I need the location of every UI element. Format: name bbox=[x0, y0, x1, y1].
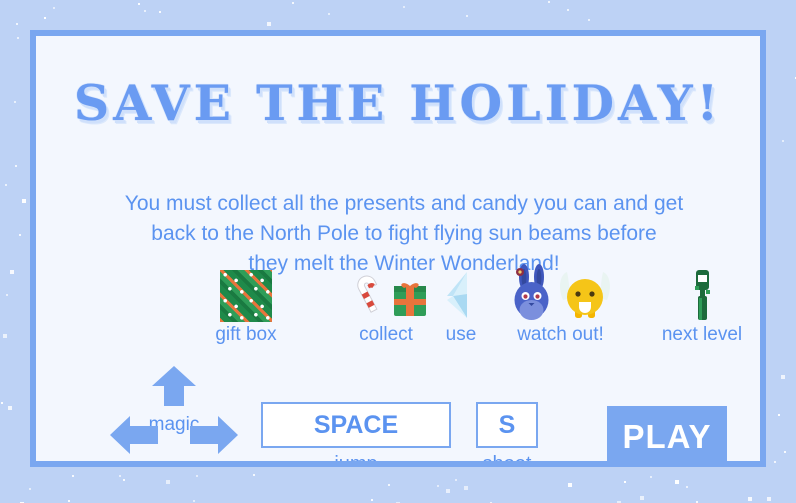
control-label-shoot: shoot bbox=[476, 453, 538, 461]
control-label-jump: jump bbox=[261, 453, 451, 461]
key-space[interactable]: SPACE bbox=[261, 402, 451, 448]
page-title: SAVE THE HOLIDAY! bbox=[36, 74, 760, 132]
mailbox-post-icon bbox=[632, 264, 760, 322]
intro-line-2: back to the North Pole to fight flying s… bbox=[86, 219, 722, 249]
intro-line-1: You must collect all the presents and ca… bbox=[86, 189, 722, 219]
legend-item-gift-box: gift box bbox=[191, 264, 301, 346]
legend-item-next-level: next level bbox=[632, 264, 760, 346]
arrow-up-icon bbox=[150, 364, 198, 408]
control-right[interactable]: right bbox=[169, 414, 259, 461]
legend-label-next-level: next level bbox=[632, 324, 760, 346]
arrow-right-icon bbox=[188, 414, 240, 456]
bunny-and-sunbeam-enemy-icon bbox=[478, 264, 643, 322]
start-screen-panel: SAVE THE HOLIDAY! You must collect all t… bbox=[30, 30, 766, 467]
game-scene: SAVE THE HOLIDAY! You must collect all t… bbox=[0, 0, 796, 503]
arrow-left-icon bbox=[108, 414, 160, 456]
legend-item-watch-out: watch out! bbox=[478, 264, 643, 346]
control-left[interactable]: left bbox=[89, 414, 179, 461]
key-s[interactable]: S bbox=[476, 402, 538, 448]
legend-label-watch-out: watch out! bbox=[478, 324, 643, 346]
legend-row: gift box bbox=[36, 264, 760, 374]
gift-box-icon bbox=[191, 264, 301, 322]
control-shoot[interactable]: S shoot bbox=[476, 402, 538, 461]
control-jump[interactable]: SPACE jump bbox=[261, 402, 451, 461]
controls-row: magic left right bbox=[36, 366, 760, 461]
legend-label-gift-box: gift box bbox=[191, 324, 301, 346]
play-button[interactable]: PLAY bbox=[607, 406, 727, 461]
